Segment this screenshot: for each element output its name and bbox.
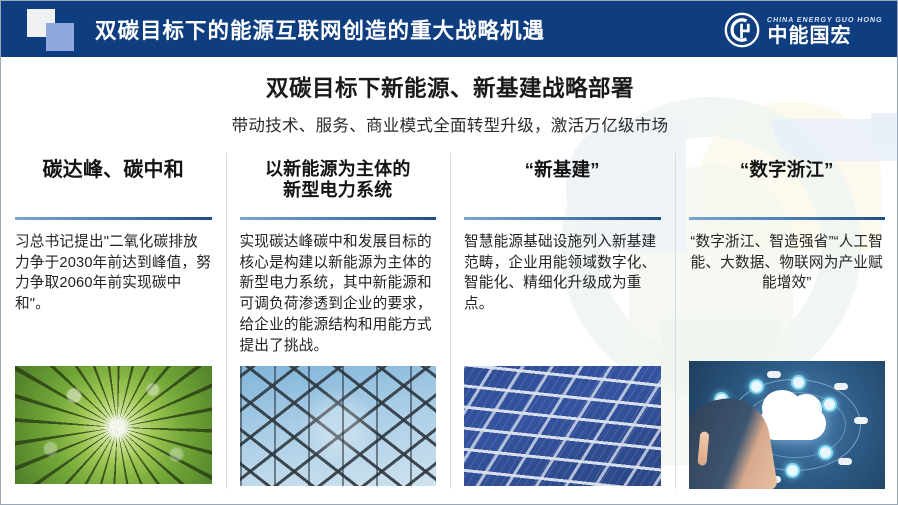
transmission-tower-photo xyxy=(240,366,437,486)
cloud-computing-image xyxy=(689,361,886,489)
chart-node-icon xyxy=(791,375,806,390)
company-logo-mark xyxy=(724,12,760,48)
finger xyxy=(697,432,709,467)
forest-canopy-photo xyxy=(15,366,212,484)
column-body-text: “数字浙江、智造强省”“人工智能、大数据、物联网为产业赋能增效” xyxy=(689,232,886,294)
column-heading-wrap: “新基建” xyxy=(464,159,661,215)
slide-header-bar: 双碳目标下的能源互联网创造的重大战略机遇 CHINA ENERGY GUO HO… xyxy=(1,1,898,57)
mini-cloud-icon xyxy=(767,371,781,378)
column-heading: “新基建” xyxy=(525,159,600,180)
page-subtitle: 带动技术、服务、商业模式全面转型升级，激活万亿级市场 xyxy=(1,112,898,136)
company-logo-text: CHINA ENERGY GUO HONG 中能国宏 xyxy=(767,15,883,46)
column-body-text: 习总书记提出"二氧化碳排放力争于2030年前达到峰值，努力争取2060年前实现碳… xyxy=(15,232,212,315)
column-heading: “数字浙江” xyxy=(740,159,834,180)
slide-header-title: 双碳目标下的能源互联网创造的重大战略机遇 xyxy=(95,14,545,45)
column-digital-zhejiang: “数字浙江” “数字浙江、智造强省”“人工智能、大数据、物联网为产业赋能增效” xyxy=(675,159,898,499)
column-heading-wrap: 碳达峰、碳中和 xyxy=(15,159,212,215)
shield-node-icon xyxy=(822,397,837,412)
company-logo-english: CHINA ENERGY GUO HONG xyxy=(767,15,884,24)
column-new-power-system: 以新能源为主体的新型电力系统 实现碳达峰碳中和发展目标的核心是构建以新能源为主体… xyxy=(226,159,451,499)
column-divider-rule xyxy=(689,217,886,220)
column-new-infrastructure: “新基建” 智慧能源基础设施列入新基建范畴，企业用能领域数字化、智能化、精细化升… xyxy=(450,159,675,499)
column-body-text: 实现碳达峰碳中和发展目标的核心是构建以新能源为主体的新型电力系统，其中新能源和可… xyxy=(240,232,437,356)
page-title: 双碳目标下新能源、新基建战略部署 xyxy=(1,71,898,103)
headline-block: 双碳目标下新能源、新基建战略部署 带动技术、服务、商业模式全面转型升级，激活万亿… xyxy=(1,71,898,136)
column-divider-rule xyxy=(240,217,437,220)
column-carbon-peak: 碳达峰、碳中和 习总书记提出"二氧化碳排放力争于2030年前达到峰值，努力争取2… xyxy=(1,159,226,499)
content-columns: 碳达峰、碳中和 习总书记提出"二氧化碳排放力争于2030年前达到峰值，努力争取2… xyxy=(1,159,898,499)
forest-canopy-image xyxy=(15,366,212,484)
transmission-tower-image xyxy=(240,366,437,486)
solar-panel-array-image xyxy=(464,366,661,486)
column-separator xyxy=(450,153,451,489)
company-logo: CHINA ENERGY GUO HONG 中能国宏 xyxy=(724,10,883,50)
column-heading-wrap: “数字浙江” xyxy=(689,159,886,215)
column-heading: 以新能源为主体的新型电力系统 xyxy=(265,159,411,201)
column-divider-rule xyxy=(464,217,661,220)
document-node-icon xyxy=(785,463,800,478)
mini-cloud-icon xyxy=(854,417,868,424)
column-separator xyxy=(226,153,227,489)
column-divider-rule xyxy=(15,217,212,220)
column-body-text: 智慧能源基础设施列入新基建范畴，企业用能领域数字化、智能化、精细化升级成为重点。 xyxy=(464,232,661,315)
solar-panel-array-photo xyxy=(464,366,661,486)
column-heading: 碳达峰、碳中和 xyxy=(43,159,184,182)
cloud-computing-photo xyxy=(689,361,886,489)
slide-canvas: 双碳目标下的能源互联网创造的重大战略机遇 CHINA ENERGY GUO HO… xyxy=(0,0,898,505)
column-heading-wrap: 以新能源为主体的新型电力系统 xyxy=(240,159,437,215)
mini-cloud-icon xyxy=(834,383,848,390)
company-logo-chinese: 中能国宏 xyxy=(767,26,883,46)
mini-cloud-icon xyxy=(838,458,852,465)
header-square-decoration xyxy=(27,6,87,52)
column-separator xyxy=(675,153,676,489)
square-blue-icon xyxy=(46,23,74,51)
